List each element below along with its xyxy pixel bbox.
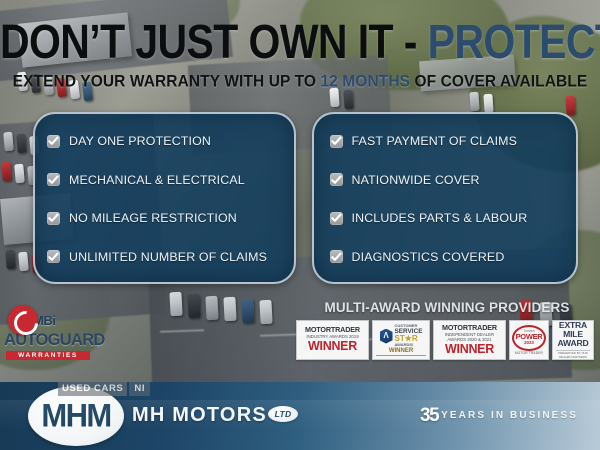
subheadline-part2: OF COVER AVAILABLE	[410, 72, 587, 91]
years-label: YEARS IN BUSINESS	[441, 410, 578, 421]
list-item: FAST PAYMENT OF CLAIMS	[330, 134, 569, 148]
awards-heading: MULTI-AWARD WINNING PROVIDERS	[302, 300, 592, 315]
badge-result: WINNER	[445, 342, 494, 356]
subheadline-accent-duration: 12 MONTHS	[320, 72, 410, 91]
badge-result: WINNER	[308, 339, 357, 353]
checkmark-icon	[330, 135, 343, 148]
badge-footer: PRESENTED BY OUR DEALER PARTNERS	[556, 350, 590, 359]
dealer-name: MH MOTORS	[132, 404, 267, 427]
list-item: INCLUDES PARTS & LABOUR	[330, 211, 569, 225]
badge-line3: AWARD	[558, 339, 589, 348]
autoguard-warranties-logo: MBi AUTOGUARD WARRANTIES	[8, 305, 104, 360]
badge-year: 2023	[524, 341, 534, 345]
award-badges: MOTORTRADER INDUSTRY AWARDS 2019 WINNER …	[296, 320, 594, 360]
award-badge-motortrader-2020-2021: MOTORTRADER INDEPENDENT DEALER AWARDS 20…	[433, 320, 506, 360]
autoguard-tagline: WARRANTIES	[6, 351, 90, 360]
mhm-logo: MHM	[28, 386, 124, 446]
list-item: DIAGNOSTICS COVERED	[330, 250, 569, 264]
badge-brand: MOTORTRADER	[305, 326, 360, 334]
years-in-business: 35 YEARS IN BUSINESS	[420, 406, 578, 425]
checkmark-icon	[47, 212, 60, 225]
feature-panel-left: DAY ONE PROTECTION MECHANICAL & ELECTRIC…	[33, 112, 296, 284]
list-item: NATIONWIDE COVER	[330, 173, 569, 187]
award-badge-power-2023: Trusted POWER 2023 MOTOR TRADER	[509, 320, 549, 360]
checkmark-icon	[330, 173, 343, 186]
feature-label: FAST PAYMENT OF CLAIMS	[352, 134, 518, 148]
checkmark-icon	[47, 173, 60, 186]
feature-label: DAY ONE PROTECTION	[69, 134, 211, 148]
footer-bar: MHM MH MOTORS LTD 35 YEARS IN BUSINESS	[0, 382, 600, 450]
ltd-badge: LTD	[268, 406, 298, 422]
mhm-initials: MHM	[41, 397, 110, 435]
subheadline-part1: EXTEND YOUR WARRANTY WITH UP TO	[13, 72, 321, 91]
award-badge-motortrader-2019: MOTORTRADER INDUSTRY AWARDS 2019 WINNER	[296, 320, 369, 360]
autoguard-swirl-icon	[8, 305, 38, 335]
power-seal-icon: Trusted POWER 2023	[512, 325, 546, 351]
page-title: DON’T JUST OWN IT - PROTECT IT	[0, 18, 600, 66]
feature-label: UNLIMITED NUMBER OF CLAIMS	[69, 250, 267, 264]
badge-brand: MOTORTRADER	[442, 324, 497, 332]
award-badge-extra-mile: EXTRA MILE AWARD PRESENTED BY OUR DEALER…	[552, 320, 594, 360]
checkmark-icon	[330, 250, 343, 263]
feature-panels: DAY ONE PROTECTION MECHANICAL & ELECTRIC…	[33, 112, 578, 284]
feature-label: DIAGNOSTICS COVERED	[352, 250, 505, 264]
badge-footer: MOTOR TRADER	[515, 352, 543, 356]
feature-panel-right: FAST PAYMENT OF CLAIMS NATIONWIDE COVER …	[312, 112, 579, 284]
feature-label: MECHANICAL & ELECTRICAL	[69, 173, 245, 187]
headline-part2-accent: PROTECT IT	[428, 14, 600, 68]
feature-label: NATIONWIDE COVER	[352, 173, 480, 187]
checkmark-icon	[47, 135, 60, 148]
award-badge-customer-service-star: Λ CUSTOMER SERVICE ST★R AWARDS! WINNER	[372, 320, 430, 360]
headline-part1: DON’T JUST OWN IT -	[0, 14, 428, 68]
badge-result: WINNER	[376, 348, 426, 356]
checkmark-icon	[47, 250, 60, 263]
checkmark-icon	[330, 212, 343, 225]
list-item: MECHANICAL & ELECTRICAL	[47, 173, 286, 187]
advert-canvas: DON’T JUST OWN IT - PROTECT IT EXTEND YO…	[0, 0, 600, 450]
subheadline: EXTEND YOUR WARRANTY WITH UP TO 12 MONTH…	[0, 72, 600, 92]
award-shield-icon: Λ	[380, 329, 393, 344]
list-item: UNLIMITED NUMBER OF CLAIMS	[47, 250, 286, 264]
years-count: 35	[420, 406, 438, 425]
feature-label: INCLUDES PARTS & LABOUR	[352, 211, 528, 225]
feature-label: NO MILEAGE RESTRICTION	[69, 211, 237, 225]
list-item: DAY ONE PROTECTION	[47, 134, 286, 148]
list-item: NO MILEAGE RESTRICTION	[47, 211, 286, 225]
